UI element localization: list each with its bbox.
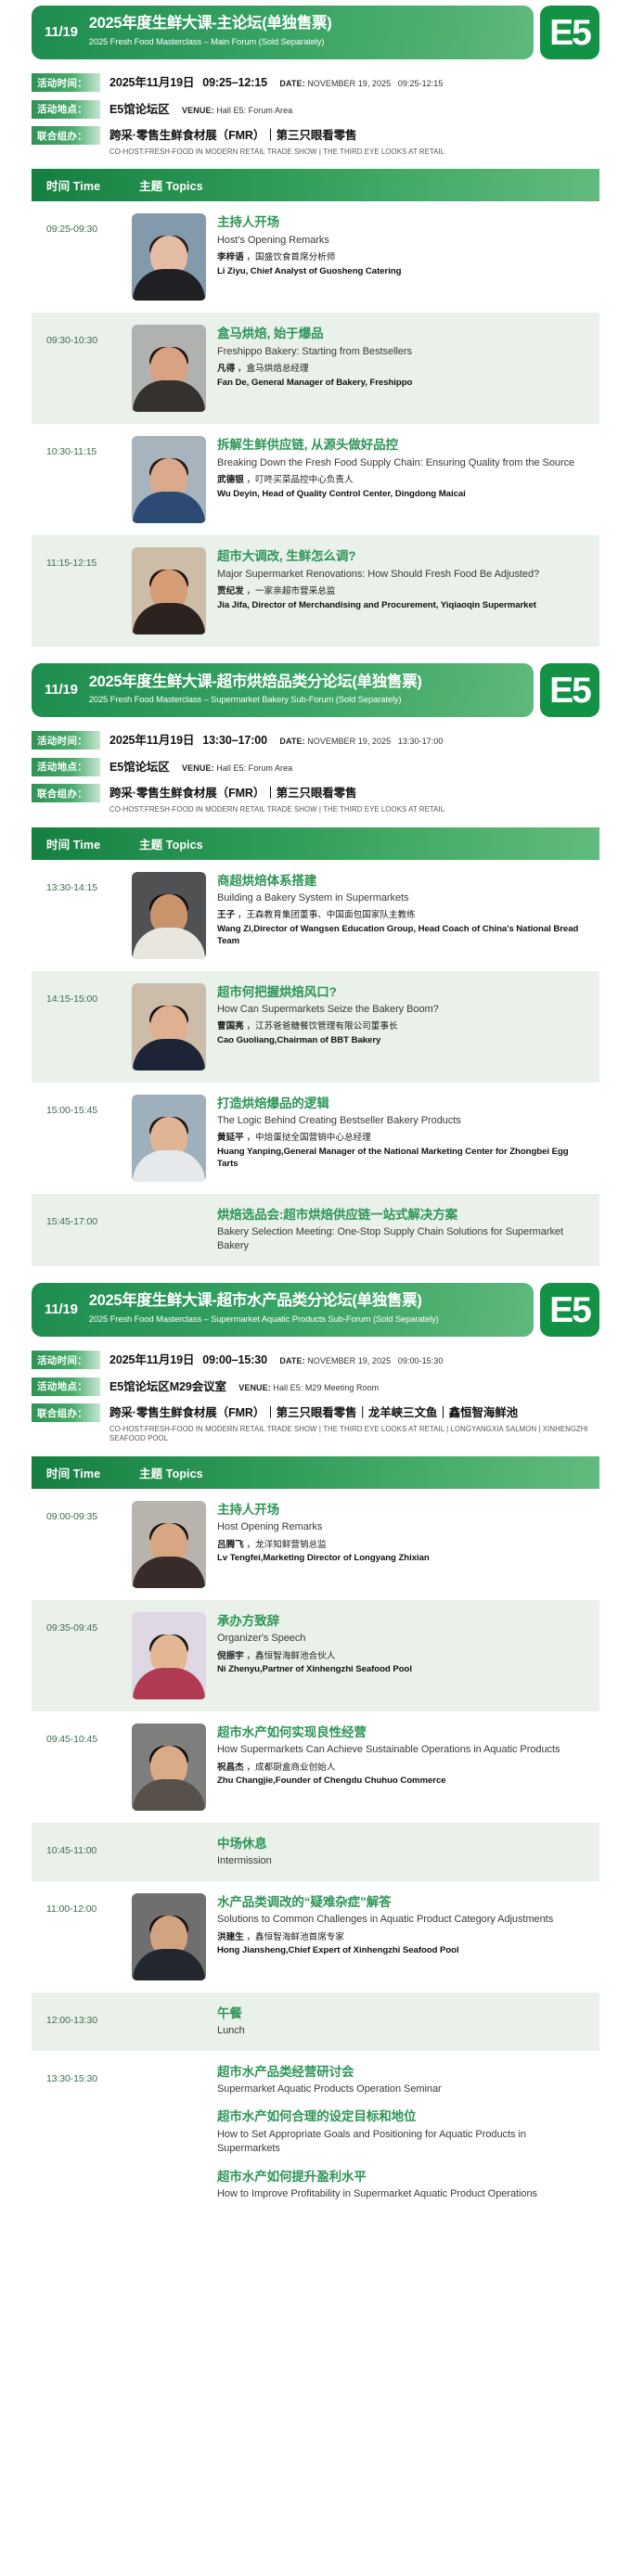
info-row-cohost: 联合组办：跨采·零售生鲜食材展（FMR）｜第三只眼看零售｜龙羊峡三文鱼｜鑫恒智海… (32, 1403, 599, 1444)
topic-title-en: Solutions to Common Challenges in Aquati… (217, 1913, 585, 1928)
topic-title-en: Breaking Down the Fresh Food Supply Chai… (217, 456, 585, 471)
topic-title-en: How Can Supermarkets Seize the Bakery Bo… (217, 1003, 585, 1018)
speaker-title-en: Fan De, General Manager of Bakery, Fresh… (217, 377, 585, 389)
agenda-row-topic: 超市何把握烘焙风口?How Can Supermarkets Seize the… (217, 983, 585, 1047)
info-tag-cohost: 联合组办： (32, 784, 100, 802)
speaker-title-en: Wang Zi,Director of Wangsen Education Gr… (217, 923, 585, 948)
venue-en: Hall E5: Forum Area (214, 763, 293, 773)
topic-title-en: Host's Opening Remarks (217, 234, 585, 249)
agenda-row-time: 09:35-09:45 (46, 1612, 132, 1634)
speaker-avatar (132, 1501, 206, 1588)
cohost-en: CO-HOST:FRESH-FOOD IN MODERN RETAIL TRAD… (109, 805, 599, 815)
info-row-venue: 活动地点：E5馆论坛区M29会议室 VENUE: Hall E5: M29 Me… (32, 1377, 599, 1397)
forum-banner-texts: 2025年度生鲜大课-主论坛(单独售票)2025 Fresh Food Mast… (89, 15, 332, 47)
info-tag-cohost: 联合组办： (32, 126, 100, 145)
forum-banner-row: 11/192025年度生鲜大课-主论坛(单独售票)2025 Fresh Food… (32, 6, 599, 59)
agenda-row[interactable]: 09:00-09:35主持人开场Host Opening Remarks吕腾飞 … (32, 1489, 599, 1600)
spacer (267, 732, 279, 748)
topic-title-en: Lunch (217, 2024, 585, 2039)
speaker-title-en: Li Ziyu, Chief Analyst of Guosheng Cater… (217, 265, 585, 277)
forum-banner-row: 11/192025年度生鲜大课-超市烘焙品类分论坛(单独售票)2025 Fres… (32, 663, 599, 717)
column-header-topic: 主题 Topics (139, 1464, 585, 1481)
forum-date: 11/19 (45, 682, 78, 698)
speaker-name-cn: 武德银 ，叮咚买菜品控中心负责人 (217, 474, 585, 486)
speaker-avatar (132, 213, 206, 301)
speaker-title-en: Hong Jiansheng,Chief Expert of Xinhengzh… (217, 1944, 585, 1956)
sub-topic-en: How to Improve Profitability in Supermar… (217, 2187, 585, 2202)
info-value-venue: E5馆论坛区 VENUE: Hall E5: Forum Area (109, 99, 599, 120)
speaker-name-cn: 曹国亮 ，江苏爸爸糖餐饮管理有限公司董事长 (217, 1020, 585, 1032)
avatar-shoulders (133, 1557, 205, 1588)
date-label: DATE: (279, 1356, 304, 1365)
topic-title-cn: 承办方致辞 (217, 1613, 585, 1630)
info-value-cohost: 跨采·零售生鲜食材展（FMR）｜第三只眼看零售CO-HOST:FRESH-FOO… (109, 125, 599, 157)
topic-title-cn: 拆解生鲜供应链, 从源头做好品控 (217, 437, 585, 454)
event-date-cn: 2025年11月19日 (109, 76, 194, 89)
forum-section: 11/192025年度生鲜大课-超市烘焙品类分论坛(单独售票)2025 Fres… (0, 663, 631, 1279)
section-spacer (32, 2214, 599, 2227)
agenda-row[interactable]: 11:00-12:00水产品类调改的“疑难杂症”解答Solutions to C… (32, 1881, 599, 1993)
agenda-row-time: 13:30-15:30 (46, 2063, 132, 2084)
speaker-name-cn: 王子 ，王森教育集团董事、中国面包国家队主教练 (217, 909, 585, 921)
speaker-name-cn: 贾纪发 ，一家亲超市营采总监 (217, 585, 585, 597)
spacer (267, 1352, 279, 1367)
topic-title-en: Bakery Selection Meeting: One-Stop Suppl… (217, 1225, 585, 1254)
agenda-row-topic: 午餐Lunch (132, 2005, 585, 2039)
event-date-en: NOVEMBER 19, 2025 09:00-15:30 (305, 1356, 444, 1365)
speaker-avatar (132, 872, 206, 959)
event-time-cn: 09:25–12:15 (202, 76, 267, 89)
info-tag-cohost: 联合组办： (32, 1403, 100, 1422)
sub-topic-cn: 超市水产如何提升盈利水平 (217, 2169, 585, 2185)
topic-title-en: Major Supermarket Renovations: How Shoul… (217, 568, 585, 583)
agenda-row-photo-cell (132, 1612, 217, 1699)
agenda-row-photo-cell (132, 547, 217, 634)
agenda-row-topic: 超市大调改, 生鲜怎么调?Major Supermarket Renovatio… (217, 547, 585, 611)
forum-title-cn: 2025年度生鲜大课-超市烘焙品类分论坛(单独售票) (89, 673, 422, 692)
agenda-row-topic: 盒马烘焙, 始于爆品Freshippo Bakery: Starting fro… (217, 325, 585, 389)
agenda-row-photo-cell (132, 872, 217, 959)
event-date-en: NOVEMBER 19, 2025 13:30-17:00 (305, 737, 444, 746)
agenda-row-topic: 商超烘焙体系搭建Building a Bakery System in Supe… (217, 872, 585, 948)
topic-title-en: The Logic Behind Creating Bestseller Bak… (217, 1114, 585, 1129)
agenda-row-time: 09:45-10:45 (46, 1724, 132, 1745)
speaker-name-cn: 洪建生 ，鑫恒智海鲜池首席专家 (217, 1931, 585, 1943)
speaker-name: 李梓语 (217, 252, 244, 263)
agenda-row[interactable]: 09:45-10:45超市水产如何实现良性经营How Supermarkets … (32, 1711, 599, 1823)
topic-title-cn: 超市大调改, 生鲜怎么调? (217, 548, 585, 565)
avatar-shoulders (133, 269, 205, 301)
agenda-row-time: 09:30-10:30 (46, 325, 132, 346)
agenda-page: 11/192025年度生鲜大课-主论坛(单独售票)2025 Fresh Food… (0, 0, 631, 2227)
topic-title-cn: 中场休息 (217, 1836, 585, 1852)
speaker-name: 吕腾飞 (217, 1540, 244, 1550)
agenda-row-topic: 主持人开场Host's Opening Remarks李梓语 ，国盛饮食首席分析… (217, 213, 585, 277)
agenda-row[interactable]: 13:30-14:15商超烘焙体系搭建Building a Bakery Sys… (32, 860, 599, 971)
speaker-name-cn: 倪振宇 ，鑫恒智海鲜池合伙人 (217, 1650, 585, 1662)
info-value-time: 2025年11月19日 09:00–15:30 DATE: NOVEMBER 1… (109, 1350, 599, 1370)
agenda-row-time: 11:00-12:00 (46, 1893, 132, 1915)
info-value-cohost: 跨采·零售生鲜食材展（FMR）｜第三只眼看零售CO-HOST:FRESH-FOO… (109, 783, 599, 814)
info-value-cohost: 跨采·零售生鲜食材展（FMR）｜第三只眼看零售｜龙羊峡三文鱼｜鑫恒智海鲜池CO-… (109, 1403, 599, 1444)
forum-banner-texts: 2025年度生鲜大课-超市烘焙品类分论坛(单独售票)2025 Fresh Foo… (89, 673, 422, 706)
info-row-cohost: 联合组办：跨采·零售生鲜食材展（FMR）｜第三只眼看零售CO-HOST:FRES… (32, 783, 599, 814)
speaker-avatar (132, 1095, 206, 1182)
agenda-row-photo-cell (132, 436, 217, 523)
event-date-en: NOVEMBER 19, 2025 09:25-12:15 (305, 79, 444, 88)
forum-banner[interactable]: 11/192025年度生鲜大课-超市水产品类分论坛(单独售票)2025 Fres… (32, 1283, 534, 1337)
column-header-time: 时间 Time (46, 835, 139, 852)
info-row-venue: 活动地点：E5馆论坛区 VENUE: Hall E5: Forum Area (32, 757, 599, 777)
agenda-row-photo-cell (132, 213, 217, 301)
forum-title-en: 2025 Fresh Food Masterclass – Supermarke… (89, 1314, 439, 1326)
agenda-row[interactable]: 14:15-15:00超市何把握烘焙风口?How Can Supermarket… (32, 971, 599, 1083)
topic-title-cn: 超市水产如何实现良性经营 (217, 1724, 585, 1741)
agenda-row[interactable]: 11:15-12:15超市大调改, 生鲜怎么调?Major Supermarke… (32, 535, 599, 647)
topic-title-cn: 主持人开场 (217, 214, 585, 231)
venue-label: VENUE: (182, 106, 214, 115)
agenda-row[interactable]: 10:45-11:00中场休息Intermission (32, 1823, 599, 1881)
agenda-row-time: 10:45-11:00 (46, 1835, 132, 1856)
agenda-row-photo-cell (132, 1501, 217, 1588)
agenda-row-time: 09:25-09:30 (46, 213, 132, 235)
column-header-topic: 主题 Topics (139, 835, 585, 852)
agenda-row[interactable]: 09:35-09:45承办方致辞Organizer's Speech倪振宇 ，鑫… (32, 1600, 599, 1711)
speaker-name: 贾纪发 (217, 586, 244, 596)
speaker-title-en: Cao Guoliang,Chairman of BBT Bakery (217, 1034, 585, 1046)
speaker-title-en: Wu Deyin, Head of Quality Control Center… (217, 488, 585, 500)
agenda-row-time: 15:45-17:00 (46, 1206, 132, 1227)
topic-title-cn: 烘焙选品会:超市烘焙供应链一站式解决方案 (217, 1207, 585, 1224)
avatar-shoulders (133, 603, 205, 634)
agenda-row-time: 14:15-15:00 (46, 983, 132, 1005)
venue-en: Hall E5: Forum Area (214, 106, 293, 115)
forum-title-en: 2025 Fresh Food Masterclass – Main Forum… (89, 36, 332, 48)
avatar-shoulders (133, 1150, 205, 1182)
speaker-title-en: Lv Tengfei,Marketing Director of Longyan… (217, 1552, 585, 1564)
topic-title-en: How Supermarkets Can Achieve Sustainable… (217, 1743, 585, 1758)
agenda-row-photo-cell (132, 1893, 217, 1980)
event-time-cn: 13:30–17:00 (202, 734, 267, 747)
avatar-shoulders (133, 1668, 205, 1699)
info-value-time: 2025年11月19日 13:30–17:00 DATE: NOVEMBER 1… (109, 730, 599, 750)
cohost-cn: 跨采·零售生鲜食材展（FMR）｜第三只眼看零售 (109, 129, 356, 142)
topic-title-en: Building a Bakery System in Supermarkets (217, 891, 585, 906)
speaker-name-cn: 李梓语 ，国盛饮食首席分析师 (217, 251, 585, 263)
spacer (194, 732, 202, 748)
agenda-row-topic: 超市水产如何实现良性经营How Supermarkets Can Achieve… (217, 1724, 585, 1788)
agenda-sub-topic: 超市水产如何提升盈利水平How to Improve Profitability… (217, 2169, 585, 2202)
speaker-avatar (132, 1724, 206, 1811)
forum-banner[interactable]: 11/192025年度生鲜大课-超市烘焙品类分论坛(单独售票)2025 Fres… (32, 663, 534, 717)
date-label: DATE: (279, 737, 304, 746)
agenda-row[interactable]: 12:00-13:30午餐Lunch (32, 1993, 599, 2051)
forum-banner[interactable]: 11/192025年度生鲜大课-主论坛(单独售票)2025 Fresh Food… (32, 6, 534, 59)
agenda-row[interactable]: 10:30-11:15拆解生鲜供应链, 从源头做好品控Breaking Down… (32, 424, 599, 535)
info-row-venue: 活动地点：E5馆论坛区 VENUE: Hall E5: Forum Area (32, 99, 599, 120)
speaker-name: 洪建生 (217, 1932, 244, 1942)
info-row-time: 活动时间：2025年11月19日 13:30–17:00 DATE: NOVEM… (32, 730, 599, 750)
topic-title-cn: 超市水产品类经营研讨会 (217, 2064, 585, 2081)
forum-title-cn: 2025年度生鲜大课-主论坛(单独售票) (89, 15, 332, 33)
avatar-shoulders (133, 1779, 205, 1811)
agenda-table-header: 时间 Time主题 Topics (32, 827, 599, 860)
forum-info-list: 活动时间：2025年11月19日 09:25–12:15 DATE: NOVEM… (32, 72, 599, 157)
sub-topic-en: How to Set Appropriate Goals and Positio… (217, 2128, 585, 2157)
agenda-row-time: 12:00-13:30 (46, 2005, 132, 2026)
speaker-title-en: Huang Yanping,General Manager of the Nat… (217, 1146, 585, 1171)
info-row-time: 活动时间：2025年11月19日 09:00–15:30 DATE: NOVEM… (32, 1350, 599, 1370)
hall-badge: E5 (540, 6, 599, 59)
cohost-cn: 跨采·零售生鲜食材展（FMR）｜第三只眼看零售 (109, 787, 356, 800)
avatar-shoulders (133, 380, 205, 412)
speaker-name: 祝昌杰 (217, 1762, 244, 1773)
agenda-row[interactable]: 13:30-15:30超市水产品类经营研讨会Supermarket Aquati… (32, 2051, 599, 2214)
info-tag-venue: 活动地点： (32, 100, 100, 119)
topic-title-en: Host Opening Remarks (217, 1520, 585, 1535)
topic-title-en: Organizer's Speech (217, 1632, 585, 1647)
forum-section: 11/192025年度生鲜大课-超市水产品类分论坛(单独售票)2025 Fres… (0, 1283, 631, 2227)
speaker-avatar (132, 547, 206, 634)
topic-title-en: Intermission (217, 1854, 585, 1869)
speaker-avatar (132, 1612, 206, 1699)
speaker-name-cn: 祝昌杰 ，成都厨盒商业创始人 (217, 1762, 585, 1774)
info-row-time: 活动时间：2025年11月19日 09:25–12:15 DATE: NOVEM… (32, 72, 599, 93)
agenda-table-header: 时间 Time主题 Topics (32, 1456, 599, 1489)
speaker-name: 曹国亮 (217, 1021, 244, 1032)
venue-label: VENUE: (182, 763, 214, 773)
agenda-row-photo-cell (132, 1724, 217, 1811)
cohost-cn: 跨采·零售生鲜食材展（FMR）｜第三只眼看零售｜龙羊峡三文鱼｜鑫恒智海鲜池 (109, 1406, 518, 1419)
cohost-en: CO-HOST:FRESH-FOOD IN MODERN RETAIL TRAD… (109, 147, 599, 158)
forum-date: 11/19 (45, 24, 78, 40)
agenda-row[interactable]: 15:00-15:45打造烘焙爆品的逻辑The Logic Behind Cre… (32, 1083, 599, 1194)
cohost-en: CO-HOST:FRESH-FOOD IN MODERN RETAIL TRAD… (109, 1425, 599, 1444)
forum-section: 11/192025年度生鲜大课-主论坛(单独售票)2025 Fresh Food… (0, 0, 631, 660)
agenda-row-photo-cell (132, 983, 217, 1070)
agenda-row-time: 15:00-15:45 (46, 1095, 132, 1116)
agenda-row-time: 13:30-14:15 (46, 872, 132, 893)
agenda-row-topic: 拆解生鲜供应链, 从源头做好品控Breaking Down the Fresh … (217, 436, 585, 500)
speaker-title-en: Jia Jifa, Director of Merchandising and … (217, 599, 585, 611)
agenda-sub-topic: 超市水产如何合理的设定目标和地位How to Set Appropriate G… (217, 2108, 585, 2156)
info-value-venue: E5馆论坛区M29会议室 VENUE: Hall E5: M29 Meeting… (109, 1377, 599, 1397)
topic-title-en: Supermarket Aquatic Products Operation S… (217, 2083, 585, 2097)
section-spacer (32, 647, 599, 660)
info-tag-time: 活动时间： (32, 1351, 100, 1369)
venue-label: VENUE: (238, 1383, 271, 1392)
speaker-avatar (132, 1893, 206, 1980)
topic-title-cn: 盒马烘焙, 始于爆品 (217, 326, 585, 342)
event-date-cn: 2025年11月19日 (109, 1353, 194, 1366)
speaker-name: 倪振宇 (217, 1651, 244, 1661)
agenda-row-topic: 水产品类调改的“疑难杂症”解答Solutions to Common Chall… (217, 1893, 585, 1957)
agenda-row-topic: 承办方致辞Organizer's Speech倪振宇 ，鑫恒智海鲜池合伙人Ni … (217, 1612, 585, 1676)
agenda-row[interactable]: 15:45-17:00烘焙选品会:超市烘焙供应链一站式解决方案Bakery Se… (32, 1194, 599, 1266)
agenda-table-header: 时间 Time主题 Topics (32, 169, 599, 201)
spacer (267, 74, 279, 90)
topic-title-cn: 商超烘焙体系搭建 (217, 873, 585, 890)
topic-title-cn: 超市何把握烘焙风口? (217, 984, 585, 1001)
agenda-row-topic: 超市水产品类经营研讨会Supermarket Aquatic Products … (132, 2063, 585, 2202)
forum-title-en: 2025 Fresh Food Masterclass – Supermarke… (89, 694, 422, 706)
speaker-title-en: Ni Zhenyu,Partner of Xinhengzhi Seafood … (217, 1663, 585, 1675)
spacer (194, 1352, 202, 1367)
speaker-name: 武德银 (217, 475, 244, 485)
agenda-row-time: 10:30-11:15 (46, 436, 132, 457)
avatar-shoulders (133, 492, 205, 523)
forum-date: 11/19 (45, 1301, 78, 1317)
date-label: DATE: (279, 79, 304, 88)
hall-badge: E5 (540, 1283, 599, 1337)
forum-banner-texts: 2025年度生鲜大课-超市水产品类分论坛(单独售票)2025 Fresh Foo… (89, 1292, 439, 1325)
speaker-avatar (132, 325, 206, 412)
avatar-shoulders (133, 1949, 205, 1980)
speaker-name-cn: 吕腾飞 ，龙洋知鲜营销总监 (217, 1539, 585, 1551)
venue-cn: E5馆论坛区 (109, 761, 170, 774)
venue-en: Hall E5: M29 Meeting Room (271, 1383, 379, 1392)
forum-banner-row: 11/192025年度生鲜大课-超市水产品类分论坛(单独售票)2025 Fres… (32, 1283, 599, 1337)
column-header-topic: 主题 Topics (139, 176, 585, 194)
agenda-row[interactable]: 09:30-10:30盒马烘焙, 始于爆品Freshippo Bakery: S… (32, 313, 599, 424)
speaker-avatar (132, 983, 206, 1070)
speaker-name-cn: 凡得 ，盒马烘焙总经理 (217, 363, 585, 375)
agenda-row-time: 11:15-12:15 (46, 547, 132, 569)
speaker-title-en: Zhu Changjie,Founder of Chengdu Chuhuo C… (217, 1775, 585, 1787)
event-time-cn: 09:00–15:30 (202, 1353, 267, 1366)
agenda-row-topic: 烘焙选品会:超市烘焙供应链一站式解决方案Bakery Selection Mee… (132, 1206, 585, 1254)
agenda-row[interactable]: 09:25-09:30主持人开场Host's Opening Remarks李梓… (32, 201, 599, 313)
speaker-name: 王子 (217, 910, 235, 920)
venue-cn: E5馆论坛区 (109, 103, 170, 116)
sub-topic-cn: 超市水产如何合理的设定目标和地位 (217, 2108, 585, 2125)
info-tag-time: 活动时间： (32, 731, 100, 750)
speaker-name: 黄延平 (217, 1133, 244, 1143)
spacer (226, 1378, 238, 1394)
topic-title-cn: 打造烘焙爆品的逻辑 (217, 1096, 585, 1112)
forum-info-list: 活动时间：2025年11月19日 09:00–15:30 DATE: NOVEM… (32, 1350, 599, 1444)
event-date-cn: 2025年11月19日 (109, 734, 194, 747)
info-tag-venue: 活动地点： (32, 758, 100, 776)
info-tag-time: 活动时间： (32, 73, 100, 92)
info-row-cohost: 联合组办：跨采·零售生鲜食材展（FMR）｜第三只眼看零售CO-HOST:FRES… (32, 125, 599, 157)
forum-info-list: 活动时间：2025年11月19日 13:30–17:00 DATE: NOVEM… (32, 730, 599, 814)
hall-badge: E5 (540, 663, 599, 717)
topic-title-cn: 水产品类调改的“疑难杂症”解答 (217, 1894, 585, 1911)
venue-cn: E5馆论坛区M29会议室 (109, 1380, 226, 1393)
topic-title-cn: 主持人开场 (217, 1502, 585, 1519)
agenda-row-time: 09:00-09:35 (46, 1501, 132, 1522)
info-value-time: 2025年11月19日 09:25–12:15 DATE: NOVEMBER 1… (109, 72, 599, 93)
spacer (170, 101, 182, 117)
forum-title-cn: 2025年度生鲜大课-超市水产品类分论坛(单独售票) (89, 1292, 439, 1311)
info-value-venue: E5馆论坛区 VENUE: Hall E5: Forum Area (109, 757, 599, 777)
column-header-time: 时间 Time (46, 1464, 139, 1481)
section-spacer (32, 1266, 599, 1279)
topic-title-en: Freshippo Bakery: Starting from Bestsell… (217, 345, 585, 360)
info-tag-venue: 活动地点： (32, 1378, 100, 1396)
topic-title-cn: 午餐 (217, 2006, 585, 2022)
avatar-shoulders (133, 1039, 205, 1070)
spacer (170, 759, 182, 775)
speaker-name: 凡得 (217, 364, 235, 374)
agenda-row-topic: 主持人开场Host Opening Remarks吕腾飞 ，龙洋知鲜营销总监Lv… (217, 1501, 585, 1565)
agenda-row-topic: 打造烘焙爆品的逻辑The Logic Behind Creating Bests… (217, 1095, 585, 1171)
agenda-row-photo-cell (132, 1095, 217, 1182)
speaker-avatar (132, 436, 206, 523)
agenda-row-topic: 中场休息Intermission (132, 1835, 585, 1869)
column-header-time: 时间 Time (46, 176, 139, 194)
avatar-shoulders (133, 928, 205, 959)
speaker-name-cn: 黄延平 ，中焙蛋挞全国营销中心总经理 (217, 1132, 585, 1144)
agenda-row-photo-cell (132, 325, 217, 412)
spacer (194, 74, 202, 90)
